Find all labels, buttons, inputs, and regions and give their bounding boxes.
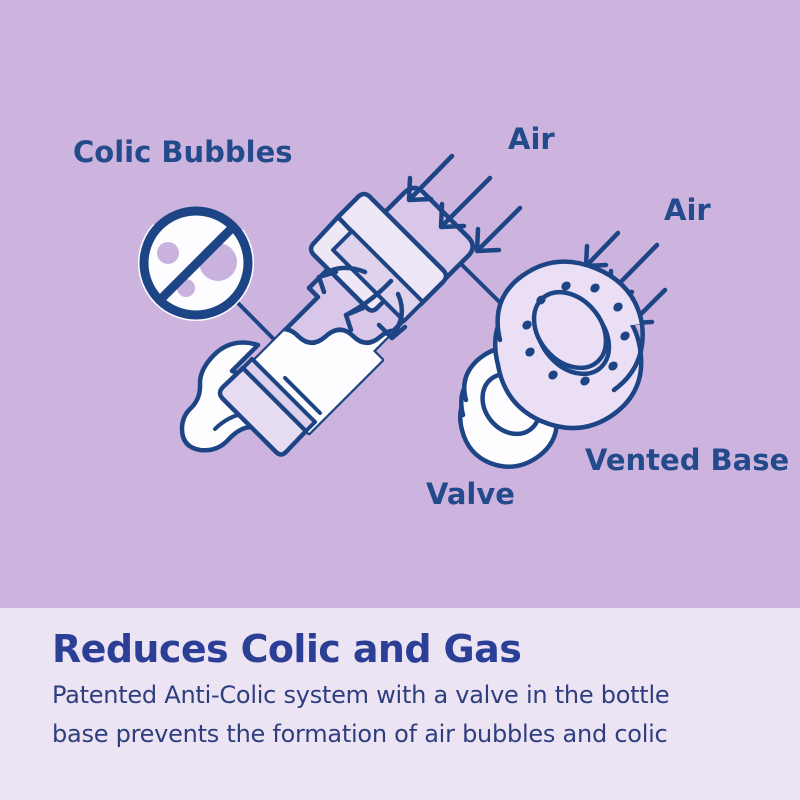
air-arrow-right-1 bbox=[586, 233, 618, 266]
vented-base-disc bbox=[495, 262, 642, 428]
air-arrow-top-3 bbox=[477, 208, 520, 251]
anti-colic-diagram: Colic Bubbles Air Air Valve Vented Base bbox=[0, 0, 800, 608]
label-vented-base: Vented Base bbox=[585, 443, 789, 477]
no-colic-bubbles-badge bbox=[136, 211, 258, 326]
caption-panel: Reduces Colic and Gas Patented Anti-Coli… bbox=[0, 608, 800, 800]
caption-title: Reduces Colic and Gas bbox=[52, 630, 764, 670]
illustration-panel: Colic Bubbles Air Air Valve Vented Base bbox=[0, 0, 800, 608]
caption-body-line-1: Patented Anti-Colic system with a valve … bbox=[52, 676, 764, 715]
air-arrow-top-2 bbox=[441, 178, 490, 227]
air-arrow-top-1 bbox=[409, 156, 452, 200]
label-colic-bubbles: Colic Bubbles bbox=[73, 135, 293, 169]
label-air-right: Air bbox=[664, 193, 711, 227]
label-valve: Valve bbox=[426, 477, 515, 511]
caption-body-line-2: base prevents the formation of air bubbl… bbox=[52, 715, 764, 754]
infographic-root: Colic Bubbles Air Air Valve Vented Base … bbox=[0, 0, 800, 800]
label-air-top: Air bbox=[508, 122, 555, 156]
caption-inner: Reduces Colic and Gas Patented Anti-Coli… bbox=[52, 630, 764, 754]
